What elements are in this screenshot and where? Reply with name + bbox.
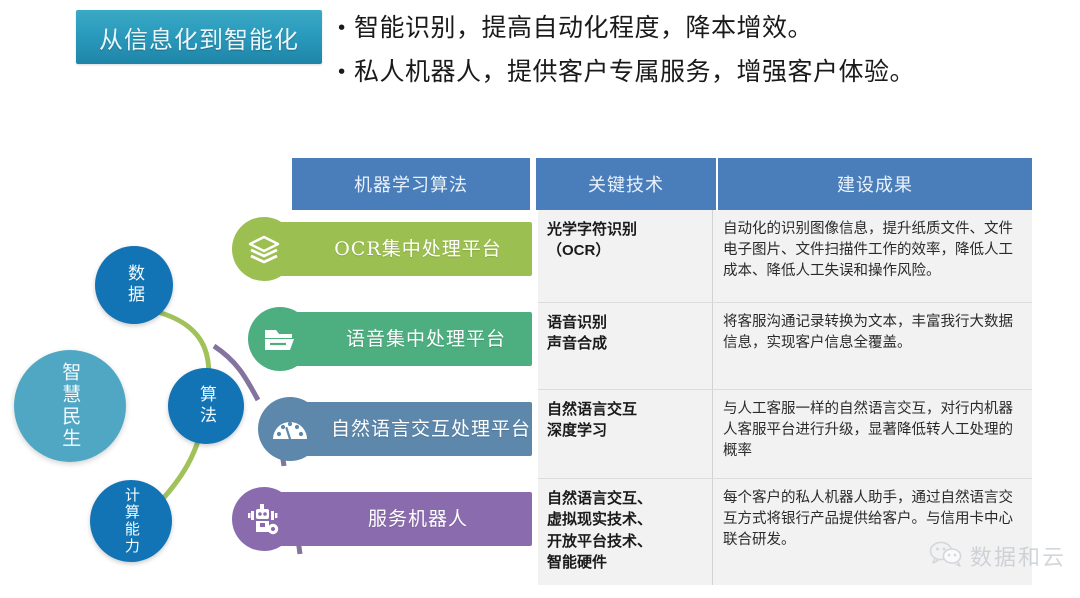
- wechat-icon: [929, 541, 963, 572]
- table-cell-key-tech: 自然语言交互、虚拟现实技术、开放平台技术、智能硬件: [538, 479, 713, 585]
- platform-row-ocr[interactable]: OCR集中处理平台: [232, 222, 532, 276]
- table-cell-key-tech: 光学字符识别（OCR）: [538, 210, 713, 302]
- mindmap-node-label: 数据: [124, 264, 144, 306]
- slide-canvas: 从信息化到智能化 • 智能识别，提高自动化程度，降本增效。 • 私人机器人，提供…: [0, 0, 1080, 598]
- mindmap-node-compute[interactable]: 计算能力: [90, 480, 172, 562]
- bullet-text: 智能识别，提高自动化程度，降本增效。: [354, 6, 1062, 50]
- bullet-text: 私人机器人，提供客户专属服务，增强客户体验。: [354, 50, 1062, 94]
- table-header-algorithm: 机器学习算法: [292, 158, 530, 210]
- watermark-text: 数据和云: [970, 540, 1066, 572]
- platform-bar: 服务机器人: [264, 492, 532, 546]
- platform-bar: OCR集中处理平台: [264, 222, 532, 276]
- table-row: 自然语言交互深度学习 与人工客服一样的自然语言交互，对行内机器人客服平台进行升级…: [538, 390, 1032, 479]
- table-header-row: 机器学习算法 关键技术 建设成果: [292, 158, 1032, 210]
- list-item: • 私人机器人，提供客户专属服务，增强客户体验。: [336, 50, 1062, 94]
- robot-icon: [232, 487, 296, 551]
- table-header-outcome: 建设成果: [718, 158, 1032, 210]
- tech-table: 机器学习算法 关键技术 建设成果 光学字符识别（OCR） 自动化的识别图像信息，…: [292, 158, 1032, 210]
- bullet-marker-icon: •: [336, 50, 354, 94]
- platform-bar: 自然语言交互处理平台: [290, 402, 532, 456]
- table-body: 光学字符识别（OCR） 自动化的识别图像信息，提升纸质文件、文件电子图片、文件扫…: [538, 210, 1032, 585]
- mindmap-center-node[interactable]: 智慧民生: [14, 350, 126, 462]
- page-title: 从信息化到智能化: [99, 20, 299, 55]
- mindmap-node-data[interactable]: 数据: [95, 246, 173, 324]
- table-cell-outcome: 与人工客服一样的自然语言交互，对行内机器人客服平台进行升级，显著降低转人工处理的…: [713, 390, 1032, 478]
- platform-bar: 语音集中处理平台: [280, 312, 532, 366]
- slide-title-box: 从信息化到智能化: [76, 10, 322, 64]
- table-cell-outcome: 自动化的识别图像信息，提升纸质文件、文件电子图片、文件扫描件工作的效率，降低人工…: [713, 210, 1032, 302]
- platform-label: 服务机器人: [328, 508, 468, 530]
- mindmap-node-algorithm[interactable]: 算法: [168, 368, 244, 444]
- layers-icon: [232, 217, 296, 281]
- mindmap-node-label: 计算能力: [122, 487, 140, 555]
- folder-icon: [248, 307, 312, 371]
- table-row: 语音识别声音合成 将客服沟通记录转换为文本，丰富我行大数据信息，实现客户信息全覆…: [538, 303, 1032, 390]
- watermark: 数据和云: [929, 540, 1066, 572]
- table-cell-key-tech: 语音识别声音合成: [538, 303, 713, 389]
- table-cell-outcome: 将客服沟通记录转换为文本，丰富我行大数据信息，实现客户信息全覆盖。: [713, 303, 1032, 389]
- table-cell-key-tech: 自然语言交互深度学习: [538, 390, 713, 478]
- platform-row-robot[interactable]: 服务机器人: [232, 492, 532, 546]
- bullet-marker-icon: •: [336, 6, 354, 50]
- table-row: 光学字符识别（OCR） 自动化的识别图像信息，提升纸质文件、文件电子图片、文件扫…: [538, 210, 1032, 303]
- platform-label: OCR集中处理平台: [294, 238, 501, 260]
- platform-label: 自然语言交互处理平台: [291, 418, 531, 440]
- mindmap-center-label: 智慧民生: [59, 362, 81, 450]
- platform-label: 语音集中处理平台: [306, 328, 506, 350]
- list-item: • 智能识别，提高自动化程度，降本增效。: [336, 6, 1062, 50]
- gauge-icon: [258, 397, 322, 461]
- mindmap-node-label: 算法: [196, 385, 216, 427]
- table-header-key-tech: 关键技术: [536, 158, 718, 210]
- platform-row-nlp[interactable]: 自然语言交互处理平台: [258, 402, 532, 456]
- bullet-list: • 智能识别，提高自动化程度，降本增效。 • 私人机器人，提供客户专属服务，增强…: [336, 6, 1062, 94]
- platform-row-voice[interactable]: 语音集中处理平台: [248, 312, 532, 366]
